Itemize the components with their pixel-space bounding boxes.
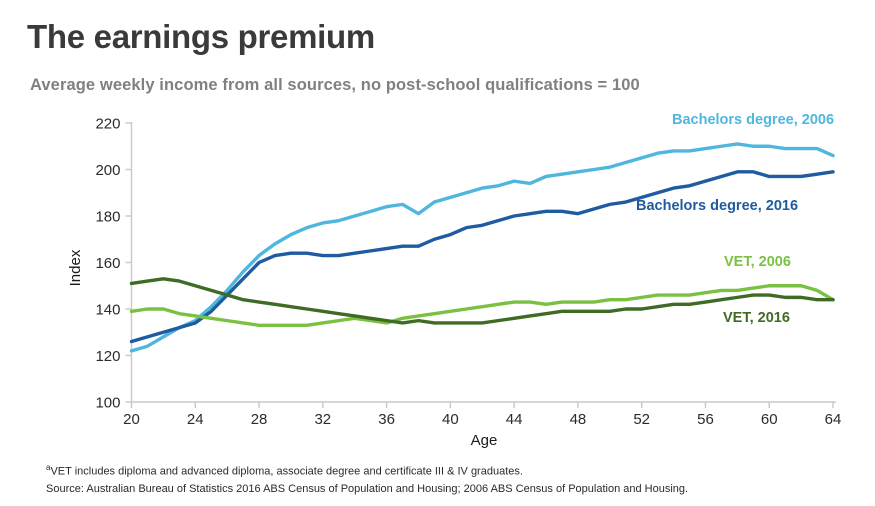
x-tick-label: 32: [314, 411, 331, 428]
x-tick-label: 48: [570, 411, 587, 428]
y-tick-label: 180: [95, 209, 120, 226]
footnote: aVET includes diploma and advanced diplo…: [46, 462, 846, 498]
y-axis-title: Index: [67, 249, 84, 286]
y-tick-label: 200: [95, 162, 120, 179]
x-tick-label: 56: [697, 411, 714, 428]
x-tick-label: 60: [761, 411, 778, 428]
x-tick-label: 20: [123, 411, 140, 428]
line-chart-svg: 100120140160180200220 202428323640444852…: [0, 0, 875, 460]
x-tick-label: 44: [506, 411, 523, 428]
footnote-text-2: Source: Australian Bureau of Statistics …: [46, 483, 688, 495]
y-tick-label: 220: [95, 116, 120, 133]
y-tick-label: 160: [95, 255, 120, 272]
x-tick-label: 40: [442, 411, 459, 428]
x-axis-ticks: 202428323640444852566064: [123, 402, 841, 428]
footnote-line-1: aVET includes diploma and advanced diplo…: [46, 462, 846, 481]
x-tick-label: 52: [633, 411, 650, 428]
x-tick-label: 28: [251, 411, 268, 428]
chart-page: The earnings premium Average weekly inco…: [0, 0, 875, 506]
series-label-bachelors-2006: Bachelors degree, 2006: [672, 112, 834, 128]
y-tick-label: 140: [95, 302, 120, 319]
footnote-line-2: Source: Australian Bureau of Statistics …: [46, 481, 846, 498]
series-label-vet-2016: VET, 2016: [723, 310, 790, 326]
series-label-bachelors-2016: Bachelors degree, 2016: [636, 198, 798, 214]
chart-plot-area: 100120140160180200220 202428323640444852…: [0, 0, 875, 460]
x-tick-label: 36: [378, 411, 395, 428]
footnote-text-1: VET includes diploma and advanced diplom…: [50, 466, 522, 478]
y-axis-ticks: 100120140160180200220: [95, 116, 131, 412]
x-tick-label: 64: [825, 411, 842, 428]
x-tick-label: 24: [187, 411, 204, 428]
y-tick-label: 120: [95, 348, 120, 365]
series-label-vet-2006: VET, 2006: [724, 254, 791, 270]
x-axis-title: Age: [471, 432, 498, 449]
y-tick-label: 100: [95, 395, 120, 412]
